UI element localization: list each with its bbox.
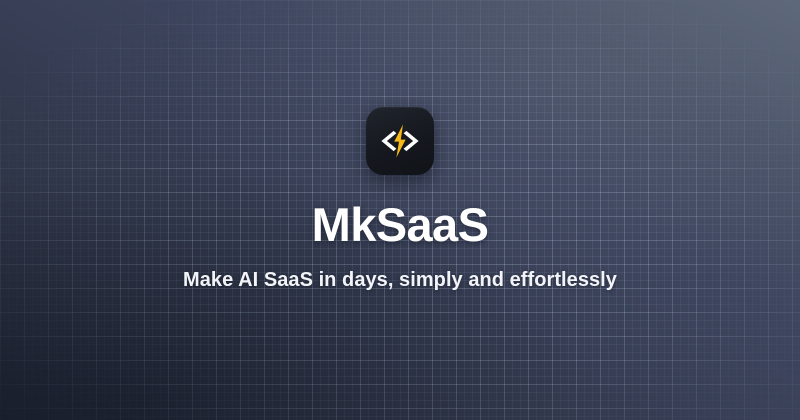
brand-tagline: Make AI SaaS in days, simply and effortl… bbox=[183, 268, 617, 292]
hero-content: MkSaaS Make AI SaaS in days, simply and … bbox=[0, 0, 800, 420]
brand-title: MkSaaS bbox=[312, 201, 489, 248]
brand-logo bbox=[366, 107, 434, 175]
code-brackets-lightning-bolt-icon bbox=[376, 117, 424, 165]
hero-banner: MkSaaS Make AI SaaS in days, simply and … bbox=[0, 0, 800, 420]
